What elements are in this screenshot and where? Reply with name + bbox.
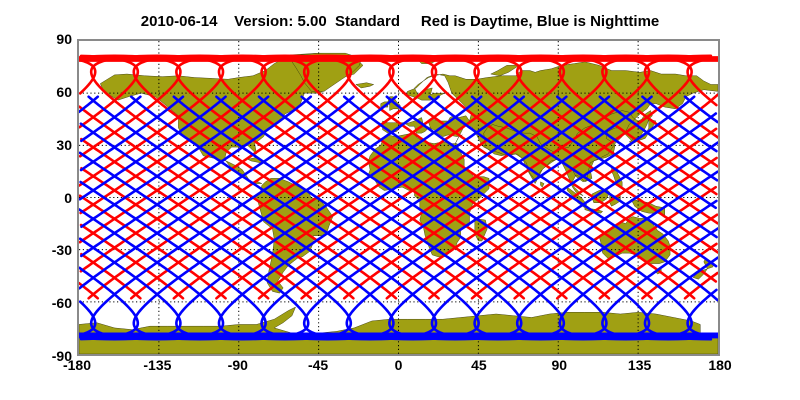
x-tick-label: -90 — [228, 358, 248, 372]
ground-track-arc — [79, 97, 98, 112]
ground-track-figure: 2010-06-14 Version: 5.00 Standard Red is… — [0, 0, 800, 400]
chart-title: 2010-06-14 Version: 5.00 Standard Red is… — [0, 13, 800, 30]
x-axis-labels: -180 -135 -90 -45 0 45 90 135 180 — [77, 358, 720, 380]
x-tick-label: 180 — [708, 358, 731, 372]
x-tick-label: -135 — [143, 358, 171, 372]
x-tick-label: 0 — [395, 358, 403, 372]
ground-track-canvas — [79, 41, 718, 354]
y-tick-label: 30 — [26, 138, 72, 152]
x-tick-label: -180 — [63, 358, 91, 372]
y-tick-label: 60 — [26, 85, 72, 99]
landmass-novaya-zemlya — [491, 65, 519, 75]
landmass-sri-lanka — [541, 182, 545, 187]
x-tick-label: 45 — [471, 358, 487, 372]
y-axis-labels: 90 60 30 0 -30 -60 -90 — [22, 39, 72, 356]
x-tick-label: -45 — [308, 358, 328, 372]
ground-track-arc — [80, 60, 95, 93]
y-tick-label: 0 — [26, 191, 72, 205]
x-tick-label: 135 — [628, 358, 651, 372]
x-tick-label: 90 — [552, 358, 568, 372]
plot-area — [77, 39, 720, 356]
landmass-iceland — [356, 83, 374, 88]
y-tick-label: -30 — [26, 243, 72, 257]
y-tick-label: -60 — [26, 296, 72, 310]
y-tick-label: 90 — [26, 32, 72, 46]
